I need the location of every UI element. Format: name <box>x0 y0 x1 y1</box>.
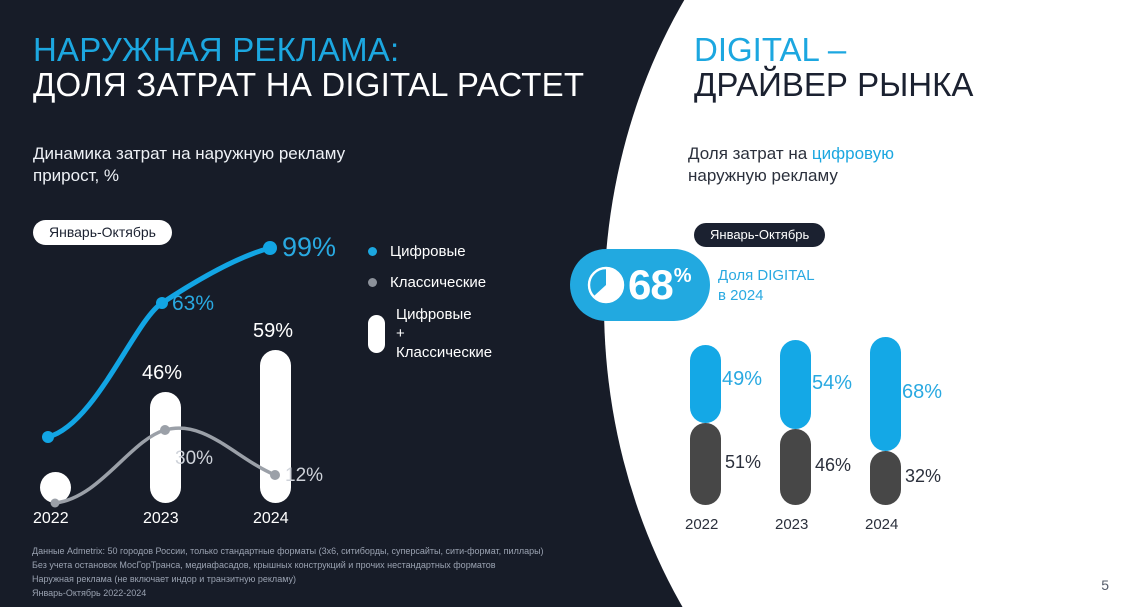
right-title-line1: DIGITAL – <box>694 33 973 68</box>
outdoor-ad-growth-chart: 99% 63% 30% 12% 46% 59% 2022 2023 2024 <box>20 210 360 520</box>
right-subtitle-line2: наружную рекламу <box>688 166 838 185</box>
stacked-bar-2022-digital <box>690 345 721 423</box>
digital-share-value: 68 <box>628 264 673 306</box>
right-period-badge: Январь-Октябрь <box>694 223 825 247</box>
left-period-badge: Январь-Октябрь <box>33 220 172 245</box>
stacked-label-2022-classic: 51% <box>725 452 761 473</box>
stacked-label-2023-classic: 46% <box>815 455 851 476</box>
left-subtitle-line1: Динамика затрат на наружную рекламу <box>33 144 345 163</box>
left-panel-title: НАРУЖНАЯ РЕКЛАМА: ДОЛЯ ЗАТРАТ НА DIGITAL… <box>33 33 584 103</box>
right-panel-background <box>1050 0 1136 607</box>
footnote-line1: Данные Admetrix: 50 городов России, толь… <box>32 546 544 556</box>
right-axis-year-2022: 2022 <box>685 516 718 533</box>
legend-label-combined-plus: + <box>396 325 405 342</box>
right-axis-year-2024: 2024 <box>865 516 898 533</box>
classic-label-2023: 30% <box>175 448 213 470</box>
footnote-line2: Без учета остановок МосГорТранса, медиаф… <box>32 560 496 570</box>
right-subtitle-highlight: цифровую <box>812 144 894 163</box>
stacked-label-2024-classic: 32% <box>905 466 941 487</box>
stacked-label-2024-digital: 68% <box>902 381 942 404</box>
stacked-bar-2023-digital <box>780 340 811 429</box>
stacked-bar-2024 <box>870 337 901 505</box>
left-subtitle-line2: прирост, % <box>33 166 119 185</box>
stacked-label-2022-digital: 49% <box>722 368 762 391</box>
left-title-line2: ДОЛЯ ЗАТРАТ НА DIGITAL РАСТЕТ <box>33 68 584 103</box>
left-chart-legend: Цифровые Классические Цифровые + Классич… <box>368 243 492 363</box>
digital-share-percent-sign: % <box>674 265 692 288</box>
classic-label-2024: 12% <box>285 465 323 487</box>
badge-label-line2: в 2024 <box>718 287 764 304</box>
stacked-label-2023-digital: 54% <box>812 372 852 395</box>
page-number: 5 <box>1101 577 1109 593</box>
legend-dot-digital-icon <box>368 247 377 256</box>
left-axis-year-2023: 2023 <box>143 510 179 528</box>
left-axis-year-2022: 2022 <box>33 510 69 528</box>
badge-label-line1: Доля DIGITAL <box>718 267 815 284</box>
legend-pill-combined-icon <box>368 315 385 353</box>
classic-point-2022 <box>51 499 60 508</box>
slide-canvas: НАРУЖНАЯ РЕКЛАМА: ДОЛЯ ЗАТРАТ НА DIGITAL… <box>0 0 1136 607</box>
right-axis-year-2023: 2023 <box>775 516 808 533</box>
classic-line-path <box>55 428 275 503</box>
digital-share-badge-label: Доля DIGITAL в 2024 <box>718 266 815 305</box>
classic-point-2023 <box>160 425 170 435</box>
stacked-bar-2024-digital <box>870 337 901 451</box>
left-axis-year-2024: 2024 <box>253 510 289 528</box>
right-title-line2: ДРАЙВЕР РЫНКА <box>694 68 973 103</box>
stacked-bar-2024-classic <box>870 451 901 505</box>
footnote-block: Данные Admetrix: 50 городов России, толь… <box>32 545 544 601</box>
legend-item-classic: Классические <box>368 274 492 291</box>
stacked-bar-2022-classic <box>690 423 721 505</box>
combo-label-2024: 59% <box>253 320 293 343</box>
digital-label-2023: 63% <box>172 292 214 316</box>
legend-label-combined-line3: Классические <box>396 344 492 361</box>
stacked-bar-2023 <box>780 340 811 505</box>
footnote-line4: Январь-Октябрь 2022-2024 <box>32 588 146 598</box>
legend-item-digital: Цифровые <box>368 243 492 260</box>
legend-label-digital: Цифровые <box>390 243 466 260</box>
legend-dot-classic-icon <box>368 278 377 287</box>
digital-point-2022 <box>42 431 54 443</box>
left-title-line1: НАРУЖНАЯ РЕКЛАМА: <box>33 33 584 68</box>
pie-chart-icon <box>586 265 626 305</box>
digital-label-2024: 99% <box>282 232 336 263</box>
legend-item-combined: Цифровые + Классические <box>368 305 492 363</box>
left-panel-subtitle: Динамика затрат на наружную рекламу прир… <box>33 143 345 188</box>
digital-share-badge: 68 % <box>570 249 710 321</box>
legend-label-classic: Классические <box>390 274 486 291</box>
classic-point-2024 <box>270 470 280 480</box>
right-panel-title: DIGITAL – ДРАЙВЕР РЫНКА <box>694 33 973 103</box>
right-subtitle-prefix: Доля затрат на <box>688 144 812 163</box>
digital-point-2024 <box>263 241 277 255</box>
digital-line-path <box>48 248 270 437</box>
stacked-bar-2023-classic <box>780 429 811 505</box>
combo-label-2023: 46% <box>142 362 182 385</box>
footnote-line3: Наружная реклама (не включает индор и тр… <box>32 574 296 584</box>
digital-point-2023 <box>156 297 168 309</box>
legend-label-combined-line1: Цифровые <box>396 306 472 323</box>
stacked-bar-2022 <box>690 345 721 505</box>
right-panel-subtitle: Доля затрат на цифровую наружную рекламу <box>688 143 894 188</box>
